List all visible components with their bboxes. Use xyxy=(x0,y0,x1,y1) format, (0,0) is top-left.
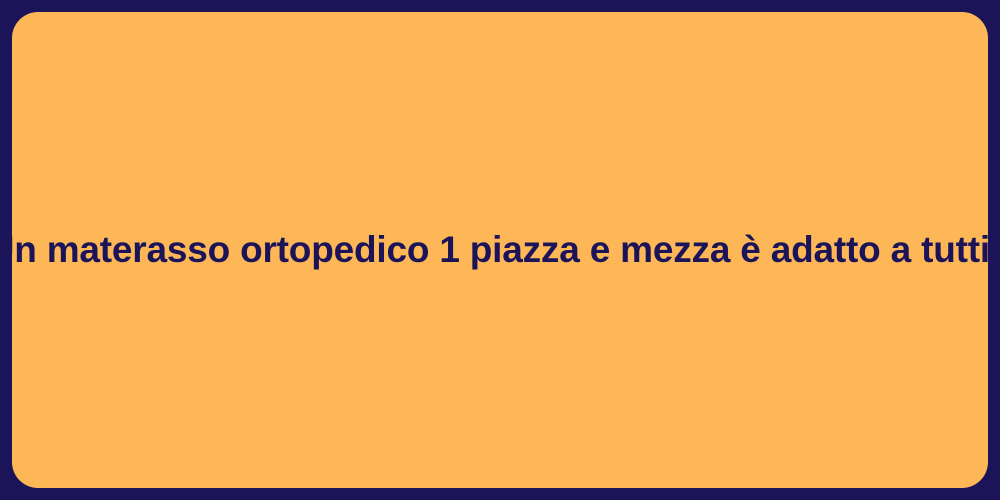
outer-frame: Un materasso ortopedico 1 piazza e mezza… xyxy=(0,0,1000,500)
content-card: Un materasso ortopedico 1 piazza e mezza… xyxy=(12,12,988,488)
headline-text: Un materasso ortopedico 1 piazza e mezza… xyxy=(0,228,1000,272)
